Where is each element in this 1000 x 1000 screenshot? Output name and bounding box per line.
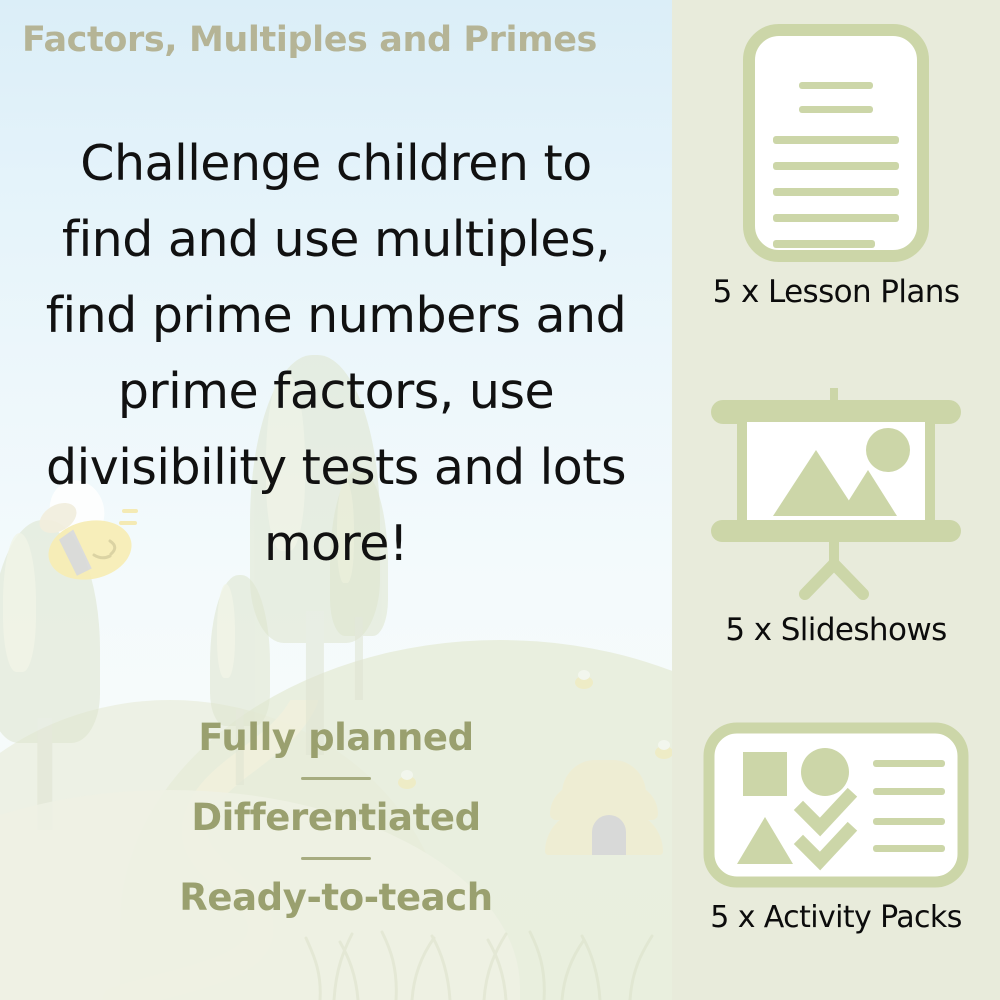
resource-card-slideshows[interactable]: 5 x Slideshows — [672, 388, 1000, 648]
resource-card-activity-packs[interactable]: 5 x Activity Packs — [672, 722, 1000, 935]
resource-card-lesson-plans[interactable]: 5 x Lesson Plans — [672, 24, 1000, 310]
resource-label-activity-packs: 5 x Activity Packs — [672, 900, 1000, 935]
left-panel: Factors, Multiples and Primes Challenge … — [0, 0, 672, 1000]
feature-item-fully-planned: Fully planned — [36, 716, 636, 760]
poster-canvas: Factors, Multiples and Primes Challenge … — [0, 0, 1000, 1000]
bee-wing — [658, 740, 670, 750]
feature-divider — [301, 777, 371, 780]
feature-item-ready-to-teach: Ready-to-teach — [36, 876, 636, 920]
feature-divider — [301, 857, 371, 860]
bee-wing — [578, 670, 590, 680]
feature-item-differentiated: Differentiated — [36, 796, 636, 840]
activity-card-icon — [703, 722, 969, 888]
small-bee-icon — [575, 672, 599, 690]
small-bee-icon — [655, 742, 672, 760]
features-list: Fully planned Differentiated Ready-to-te… — [36, 716, 636, 920]
document-icon — [743, 24, 929, 262]
page-title: Factors, Multiples and Primes — [0, 20, 672, 60]
tree-trunk — [355, 617, 363, 700]
resources-sidebar: 5 x Lesson Plans — [672, 0, 1000, 1000]
resource-label-slideshows: 5 x Slideshows — [672, 612, 1000, 648]
projector-screen-icon — [703, 388, 969, 600]
resource-label-lesson-plans: 5 x Lesson Plans — [672, 274, 1000, 310]
headline-text: Challenge children to find and use multi… — [28, 126, 644, 582]
